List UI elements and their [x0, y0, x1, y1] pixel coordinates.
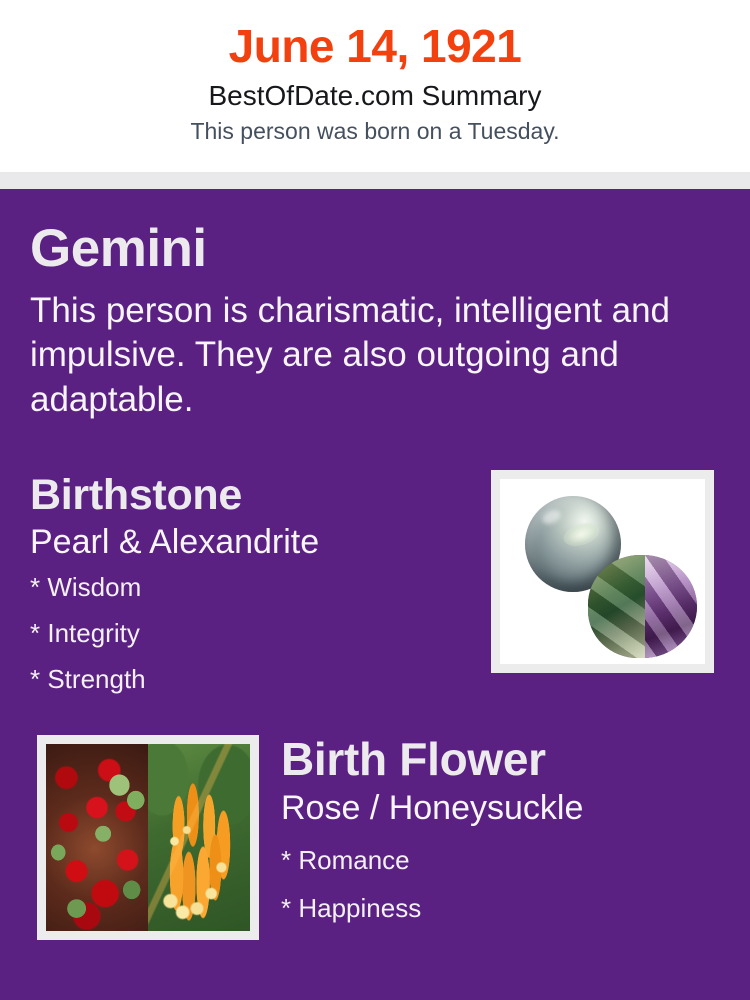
alexandrite-rough-half [588, 555, 644, 659]
birth-flower-section: Birth Flower Rose / Honeysuckle * Romanc… [281, 736, 721, 943]
header-divider [0, 172, 750, 189]
summary-card: June 14, 1921 BestOfDate.com Summary Thi… [0, 0, 750, 1000]
birthstone-heading: Birthstone [30, 474, 470, 517]
zodiac-section: Gemini This person is charismatic, intel… [30, 222, 710, 422]
list-item: * Happiness [281, 895, 721, 921]
list-item: * Wisdom [30, 574, 470, 600]
orange-honeysuckle-image [148, 744, 250, 931]
birthstone-trait-list: * Wisdom * Integrity * Strength [30, 574, 470, 692]
zodiac-sign-name: Gemini [30, 222, 710, 275]
alexandrite-gem-icon [588, 555, 697, 659]
birthstone-names: Pearl & Alexandrite [30, 524, 470, 561]
zodiac-description: This person is charismatic, intelligent … [30, 289, 695, 422]
birthstone-section: Birthstone Pearl & Alexandrite * Wisdom … [30, 474, 470, 692]
list-item: * Integrity [30, 620, 470, 646]
card-header: June 14, 1921 BestOfDate.com Summary Thi… [0, 0, 750, 172]
red-roses-image [46, 744, 148, 931]
birthstone-photo-frame [491, 470, 714, 673]
birth-flower-photo-frame [37, 735, 259, 940]
list-item: * Strength [30, 666, 470, 692]
birthstone-photo [500, 479, 705, 664]
birth-flower-trait-list: * Romance * Happiness [281, 847, 721, 921]
rose-leaves [46, 744, 148, 931]
birth-flower-photo [46, 744, 250, 931]
honeysuckle-buds [148, 744, 250, 931]
pearl-highlight [540, 507, 562, 526]
alexandrite-cut-half [645, 555, 697, 659]
weekday-statement: This person was born on a Tuesday. [0, 118, 750, 144]
page-title-date: June 14, 1921 [0, 22, 750, 70]
site-summary-label: BestOfDate.com Summary [0, 80, 750, 112]
birth-flower-heading: Birth Flower [281, 736, 721, 782]
body-panel: Gemini This person is charismatic, intel… [0, 189, 750, 1000]
birth-flower-names: Rose / Honeysuckle [281, 790, 721, 827]
list-item: * Romance [281, 847, 721, 873]
